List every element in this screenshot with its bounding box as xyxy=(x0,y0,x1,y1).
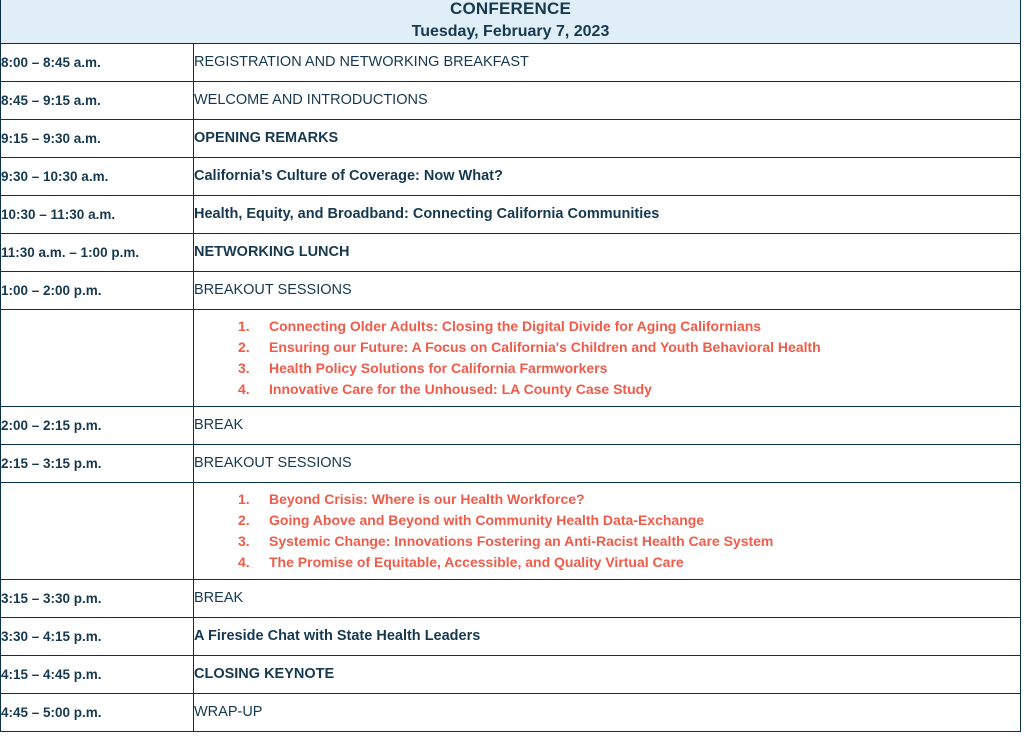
list-item[interactable]: 1. Beyond Crisis: Where is our Health Wo… xyxy=(238,489,1020,510)
list-item-title: Beyond Crisis: Where is our Health Workf… xyxy=(269,489,585,510)
row-topic: REGISTRATION AND NETWORKING BREAKFAST xyxy=(194,43,1021,81)
table-row-breakout-list-1: 1. Connecting Older Adults: Closing the … xyxy=(1,309,1021,406)
row-time: 8:45 – 9:15 a.m. xyxy=(1,81,194,119)
table-row: 3:15 – 3:30 p.m. BREAK xyxy=(1,579,1021,617)
breakout-sessions-2: 1. Beyond Crisis: Where is our Health Wo… xyxy=(194,482,1021,579)
table-row: 4:15 – 4:45 p.m. CLOSING KEYNOTE xyxy=(1,655,1021,693)
row-time: 9:15 – 9:30 a.m. xyxy=(1,119,194,157)
list-item-title: Health Policy Solutions for California F… xyxy=(269,358,607,379)
conference-agenda-page: CONFERENCE Tuesday, February 7, 2023 8:0… xyxy=(0,0,1032,743)
table-row: 2:15 – 3:15 p.m. BREAKOUT SESSIONS xyxy=(1,444,1021,482)
breakout-list-2: 1. Beyond Crisis: Where is our Health Wo… xyxy=(194,489,1020,573)
row-time: 3:15 – 3:30 p.m. xyxy=(1,579,194,617)
row-time: 3:30 – 4:15 p.m. xyxy=(1,617,194,655)
table-row-banner: CONFERENCE Tuesday, February 7, 2023 xyxy=(1,0,1021,43)
row-time: 11:30 a.m. – 1:00 p.m. xyxy=(1,233,194,271)
row-topic: WRAP-UP xyxy=(194,693,1021,731)
list-item[interactable]: 1. Connecting Older Adults: Closing the … xyxy=(238,316,1020,337)
conference-banner: CONFERENCE Tuesday, February 7, 2023 xyxy=(1,0,1021,43)
table-row: 10:30 – 11:30 a.m. Health, Equity, and B… xyxy=(1,195,1021,233)
banner-title: CONFERENCE xyxy=(1,0,1020,21)
row-topic: BREAK xyxy=(194,406,1021,444)
row-time: 9:30 – 10:30 a.m. xyxy=(1,157,194,195)
row-time: 10:30 – 11:30 a.m. xyxy=(1,195,194,233)
table-row: 9:15 – 9:30 a.m. OPENING REMARKS xyxy=(1,119,1021,157)
row-topic: BREAKOUT SESSIONS xyxy=(194,444,1021,482)
table-row: 1:00 – 2:00 p.m. BREAKOUT SESSIONS xyxy=(1,271,1021,309)
list-item-number: 2. xyxy=(238,337,269,358)
conference-agenda-table: CONFERENCE Tuesday, February 7, 2023 8:0… xyxy=(0,0,1021,732)
row-topic: OPENING REMARKS xyxy=(194,119,1021,157)
list-item-title: Innovative Care for the Unhoused: LA Cou… xyxy=(269,379,652,400)
table-row: 2:00 – 2:15 p.m. BREAK xyxy=(1,406,1021,444)
row-time: 1:00 – 2:00 p.m. xyxy=(1,271,194,309)
table-row: 4:45 – 5:00 p.m. WRAP-UP xyxy=(1,693,1021,731)
list-item[interactable]: 4. Innovative Care for the Unhoused: LA … xyxy=(238,379,1020,400)
list-item[interactable]: 4. The Promise of Equitable, Accessible,… xyxy=(238,552,1020,573)
row-topic: Health, Equity, and Broadband: Connectin… xyxy=(194,195,1021,233)
list-item-title: Systemic Change: Innovations Fostering a… xyxy=(269,531,773,552)
list-item-title: Going Above and Beyond with Community He… xyxy=(269,510,704,531)
row-topic: BREAK xyxy=(194,579,1021,617)
list-item-number: 1. xyxy=(238,489,269,510)
row-time: 4:45 – 5:00 p.m. xyxy=(1,693,194,731)
row-time: 8:00 – 8:45 a.m. xyxy=(1,43,194,81)
list-item[interactable]: 2. Ensuring our Future: A Focus on Calif… xyxy=(238,337,1020,358)
list-item-number: 4. xyxy=(238,379,269,400)
list-item-number: 3. xyxy=(238,531,269,552)
table-row: 9:30 – 10:30 a.m. California’s Culture o… xyxy=(1,157,1021,195)
list-item[interactable]: 3. Health Policy Solutions for Californi… xyxy=(238,358,1020,379)
list-item-title: The Promise of Equitable, Accessible, an… xyxy=(269,552,684,573)
breakout-empty-time-cell xyxy=(1,482,194,579)
table-row: 11:30 a.m. – 1:00 p.m. NETWORKING LUNCH xyxy=(1,233,1021,271)
row-time: 4:15 – 4:45 p.m. xyxy=(1,655,194,693)
list-item[interactable]: 2. Going Above and Beyond with Community… xyxy=(238,510,1020,531)
list-item-number: 4. xyxy=(238,552,269,573)
row-topic: NETWORKING LUNCH xyxy=(194,233,1021,271)
list-item-number: 2. xyxy=(238,510,269,531)
row-time: 2:00 – 2:15 p.m. xyxy=(1,406,194,444)
breakout-list-1: 1. Connecting Older Adults: Closing the … xyxy=(194,316,1020,400)
breakout-sessions-1: 1. Connecting Older Adults: Closing the … xyxy=(194,309,1021,406)
table-row: 8:00 – 8:45 a.m. REGISTRATION AND NETWOR… xyxy=(1,43,1021,81)
list-item-number: 3. xyxy=(238,358,269,379)
banner-date: Tuesday, February 7, 2023 xyxy=(1,21,1020,43)
list-item-number: 1. xyxy=(238,316,269,337)
row-topic: WELCOME AND INTRODUCTIONS xyxy=(194,81,1021,119)
row-topic: CLOSING KEYNOTE xyxy=(194,655,1021,693)
row-topic: BREAKOUT SESSIONS xyxy=(194,271,1021,309)
list-item-title: Ensuring our Future: A Focus on Californ… xyxy=(269,337,821,358)
row-topic: California’s Culture of Coverage: Now Wh… xyxy=(194,157,1021,195)
list-item-title: Connecting Older Adults: Closing the Dig… xyxy=(269,316,761,337)
table-row: 8:45 – 9:15 a.m. WELCOME AND INTRODUCTIO… xyxy=(1,81,1021,119)
table-row-breakout-list-2: 1. Beyond Crisis: Where is our Health Wo… xyxy=(1,482,1021,579)
table-row: 3:30 – 4:15 p.m. A Fireside Chat with St… xyxy=(1,617,1021,655)
list-item[interactable]: 3. Systemic Change: Innovations Fosterin… xyxy=(238,531,1020,552)
row-topic: A Fireside Chat with State Health Leader… xyxy=(194,617,1021,655)
breakout-empty-time-cell xyxy=(1,309,194,406)
row-time: 2:15 – 3:15 p.m. xyxy=(1,444,194,482)
